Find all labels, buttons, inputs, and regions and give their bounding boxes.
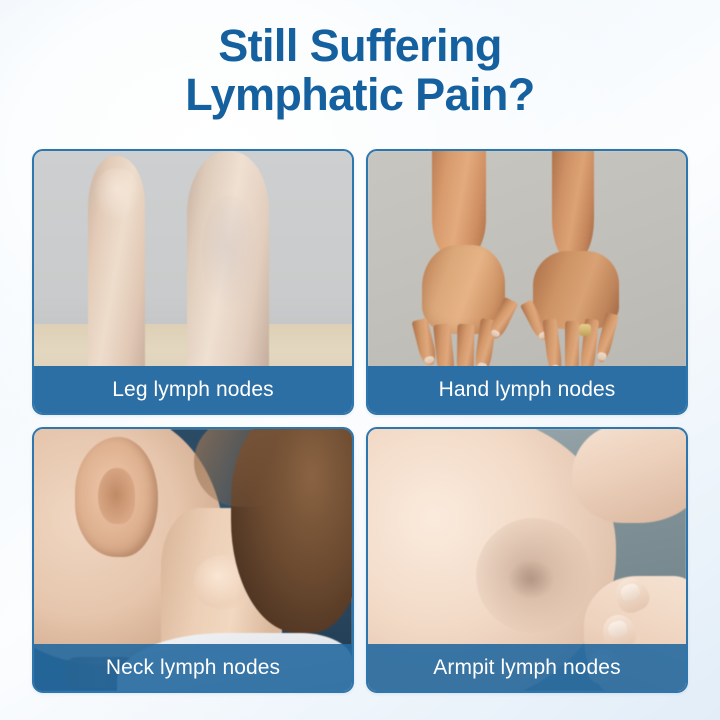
- card-caption-leg: Leg lymph nodes: [34, 366, 352, 413]
- card-armpit-lymph-nodes[interactable]: Armpit lymph nodes: [366, 427, 688, 693]
- page-title: Still Suffering Lymphatic Pain?: [0, 0, 720, 119]
- lymph-node-card-grid: Leg lymph nodes: [32, 149, 688, 689]
- card-hand-lymph-nodes[interactable]: Hand lymph nodes: [366, 149, 688, 415]
- card-caption-hand-label: Hand lymph nodes: [439, 378, 616, 402]
- card-leg-lymph-nodes[interactable]: Leg lymph nodes: [32, 149, 354, 415]
- card-caption-leg-label: Leg lymph nodes: [112, 378, 273, 402]
- card-caption-armpit: Armpit lymph nodes: [368, 644, 686, 691]
- card-neck-lymph-nodes[interactable]: Neck lymph nodes: [32, 427, 354, 693]
- card-caption-armpit-label: Armpit lymph nodes: [433, 656, 620, 680]
- lymphatic-pain-poster: Still Suffering Lymphatic Pain? Leg lymp…: [0, 0, 720, 720]
- headline-line-1: Still Suffering: [0, 22, 720, 71]
- card-caption-neck-label: Neck lymph nodes: [106, 656, 280, 680]
- ring-accessory: [579, 324, 590, 336]
- card-caption-neck: Neck lymph nodes: [34, 644, 352, 691]
- card-caption-hand: Hand lymph nodes: [368, 366, 686, 413]
- headline-line-2: Lymphatic Pain?: [0, 71, 720, 120]
